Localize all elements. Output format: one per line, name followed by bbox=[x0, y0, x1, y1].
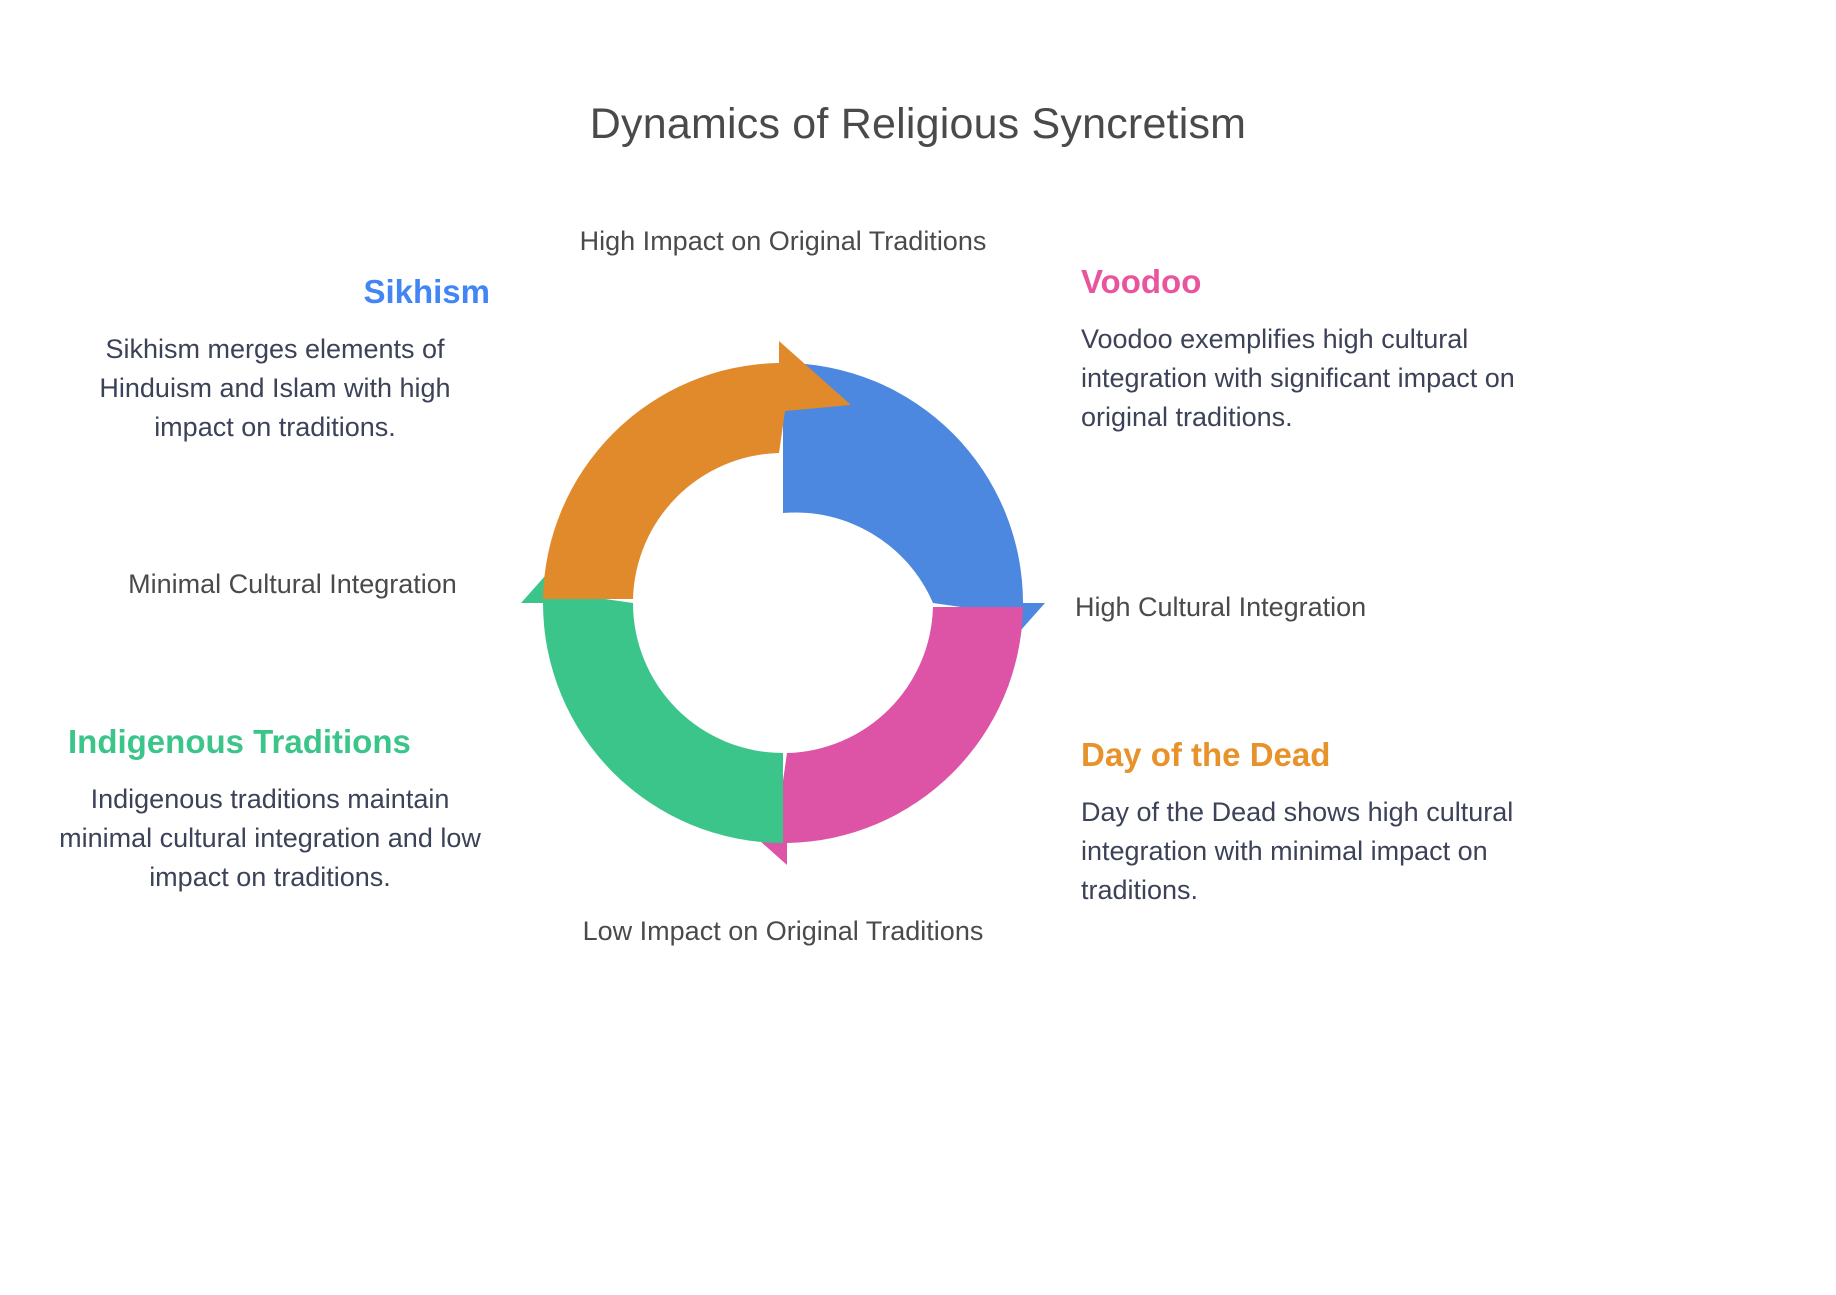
block-day-of-the-dead-heading: Day of the Dead bbox=[1081, 735, 1541, 775]
block-day-of-the-dead-body: Day of the Dead shows high cultural inte… bbox=[1081, 793, 1541, 910]
block-indigenous-traditions-heading: Indigenous Traditions bbox=[50, 722, 490, 762]
block-sikhism-heading: Sikhism bbox=[60, 272, 490, 312]
block-indigenous-traditions-body: Indigenous traditions maintain minimal c… bbox=[50, 780, 490, 897]
block-day-of-the-dead: Day of the Dead Day of the Dead shows hi… bbox=[1081, 735, 1541, 910]
block-indigenous-traditions: Indigenous Traditions Indigenous traditi… bbox=[50, 722, 490, 897]
axis-label-right: High Cultural Integration bbox=[1075, 588, 1535, 627]
block-voodoo-heading: Voodoo bbox=[1081, 262, 1531, 302]
page-title: Dynamics of Religious Syncretism bbox=[0, 100, 1836, 149]
cycle-arrow-ring bbox=[503, 323, 1063, 883]
block-voodoo: Voodoo Voodoo exemplifies high cultural … bbox=[1081, 262, 1531, 437]
diagram-canvas: Dynamics of Religious Syncretism High Im… bbox=[0, 0, 1836, 1295]
block-sikhism-body: Sikhism merges elements of Hinduism and … bbox=[60, 330, 490, 447]
axis-label-top: High Impact on Original Traditions bbox=[563, 222, 1003, 261]
block-voodoo-body: Voodoo exemplifies high cultural integra… bbox=[1081, 320, 1531, 437]
axis-label-left: Minimal Cultural Integration bbox=[110, 565, 475, 604]
axis-label-bottom: Low Impact on Original Traditions bbox=[563, 912, 1003, 951]
block-sikhism: Sikhism Sikhism merges elements of Hindu… bbox=[60, 272, 490, 447]
